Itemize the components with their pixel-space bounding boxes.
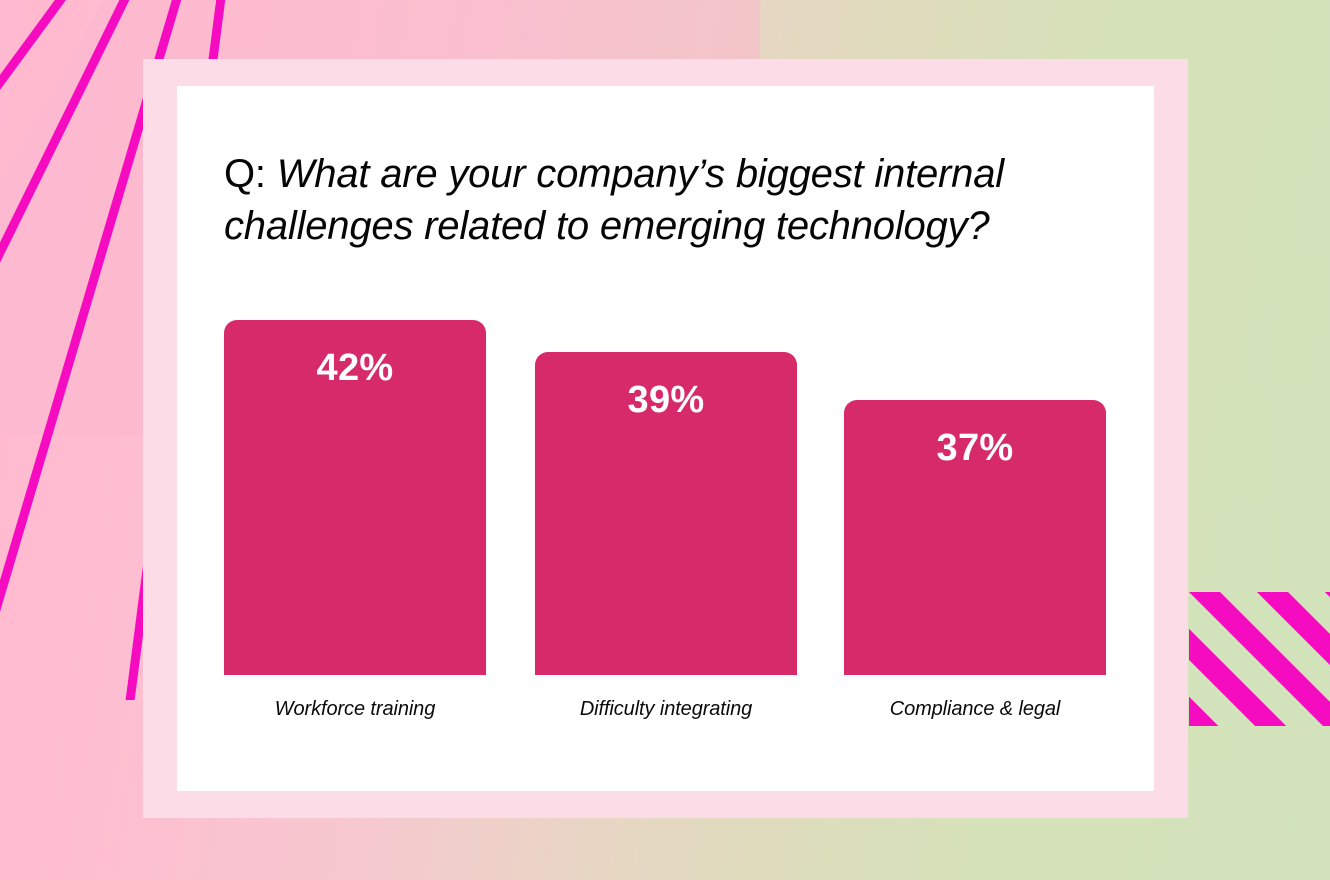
bar-compliance-legal: 37% [844,400,1106,675]
bar-value-label: 39% [628,379,705,422]
bar-value-label: 37% [937,427,1014,470]
bar-column: 42% Workforce training [224,86,486,791]
bar-column: 39% Difficulty integrating [535,86,797,791]
slide-canvas: Q: What are your company’s biggest inter… [0,0,1330,880]
bar-chart: 42% Workforce training 39% Difficulty in… [177,86,1154,791]
bar-workforce-training: 42% [224,320,486,675]
bar-difficulty-integrating: 39% [535,352,797,675]
bar-category-label: Workforce training [194,698,516,721]
bar-value-label: 42% [317,347,394,390]
bar-category-label: Difficulty integrating [505,698,827,721]
bar-column: 37% Compliance & legal [844,86,1106,791]
bar-category-label: Compliance & legal [814,698,1136,721]
